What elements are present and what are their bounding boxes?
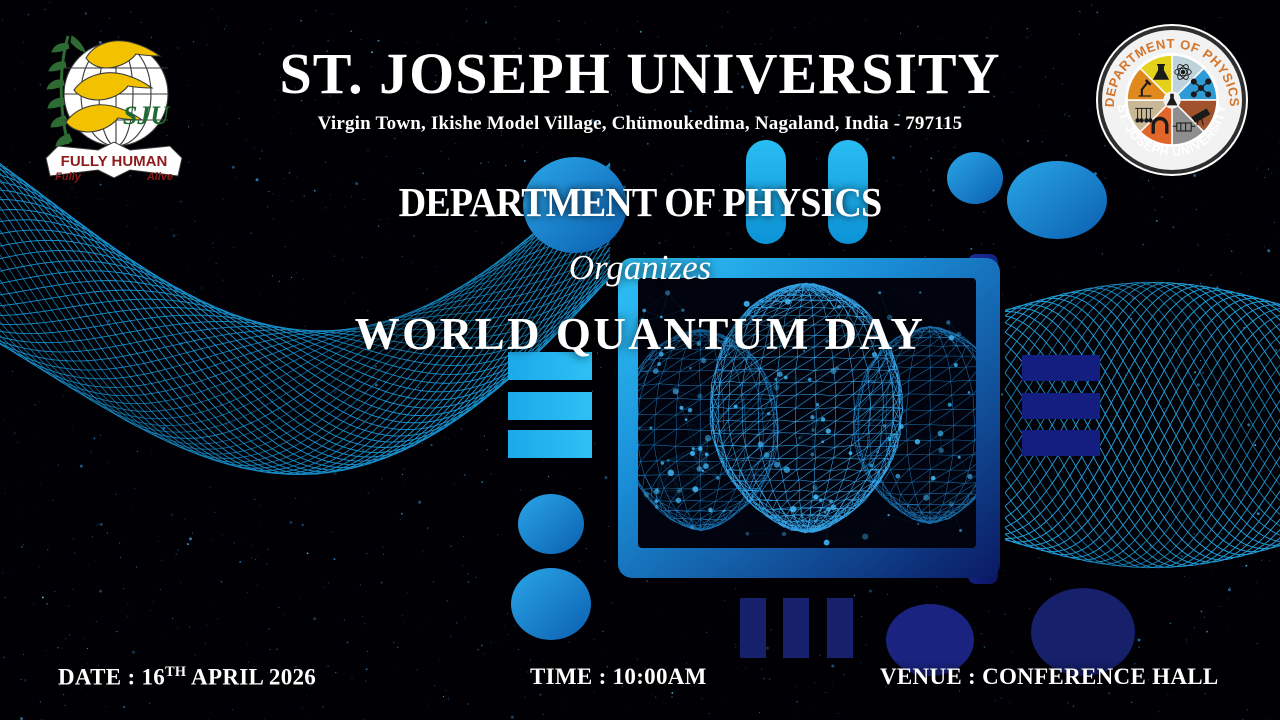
university-address: Virgin Town, Ikishe Model Village, Chümo… xyxy=(0,113,1280,135)
event-title: WORLD QUANTUM DAY xyxy=(0,308,1280,360)
footer-date-suffix: TH xyxy=(165,664,186,680)
crest-motto-main: FULLY HUMAN xyxy=(61,153,168,170)
footer-time: TIME : 10:00AM xyxy=(530,664,707,690)
organizes-label: Organizes xyxy=(0,248,1280,288)
footer-date-day: 16 xyxy=(141,665,165,690)
tablet-wireframe-display xyxy=(0,0,1280,720)
footer-venue: VENUE : CONFERENCE HALL xyxy=(880,664,1219,690)
department-title: DEPARTMENT OF PHYSICS xyxy=(45,178,1235,226)
university-title: ST. JOSEPH UNIVERSITY xyxy=(0,40,1280,107)
footer-date-rest: APRIL 2026 xyxy=(186,665,316,690)
footer-date-label: DATE : xyxy=(58,665,141,690)
footer-bar: DATE : 16TH APRIL 2026 TIME : 10:00AM VE… xyxy=(0,664,1280,700)
footer-date: DATE : 16TH APRIL 2026 xyxy=(58,664,316,691)
poster-canvas: SJU FULLY HUMAN Fully Alive xyxy=(0,0,1280,720)
